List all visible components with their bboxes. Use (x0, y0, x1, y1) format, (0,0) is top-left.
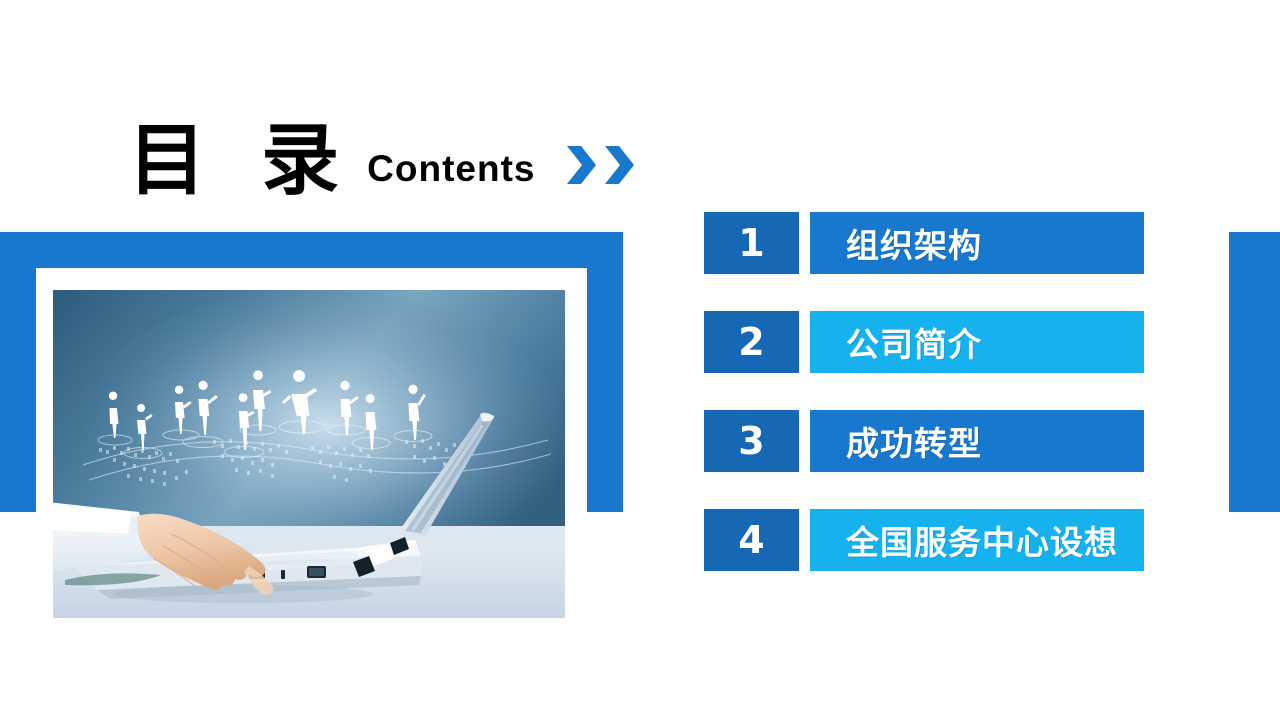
frame-bar-left (0, 232, 36, 512)
page-title-english: Contents (367, 148, 535, 190)
contents-item-number: 4 (704, 509, 799, 571)
contents-item-3[interactable]: 3 成功转型 (704, 410, 1144, 472)
contents-item-label: 公司简介 (846, 318, 982, 366)
contents-item-number: 3 (704, 410, 799, 472)
page-title-chinese: 目 录 (128, 124, 353, 198)
contents-item-number: 2 (704, 311, 799, 373)
contents-item-number: 1 (704, 212, 799, 274)
frame-bar-top (0, 232, 623, 268)
contents-item-1[interactable]: 1 组织架构 (704, 212, 1144, 274)
contents-item-label: 组织架构 (846, 219, 982, 267)
contents-item-label-box[interactable]: 成功转型 (810, 410, 1144, 472)
double-chevron-right-icon (565, 145, 636, 185)
contents-item-label-box[interactable]: 公司简介 (810, 311, 1144, 373)
contents-item-label: 成功转型 (846, 417, 982, 465)
slide-title-block: 目 录 Contents (128, 108, 636, 198)
right-accent-bar (1229, 232, 1280, 512)
laptop-hologram-photo (53, 290, 565, 618)
contents-item-label-box[interactable]: 组织架构 (810, 212, 1144, 274)
contents-item-2[interactable]: 2 公司简介 (704, 311, 1144, 373)
presentation-slide: 目 录 Contents (0, 0, 1280, 720)
contents-item-4[interactable]: 4 全国服务中心设想 (704, 509, 1144, 571)
frame-bar-right (587, 232, 623, 512)
contents-item-label-box[interactable]: 全国服务中心设想 (810, 509, 1144, 571)
contents-item-label: 全国服务中心设想 (846, 516, 1118, 564)
contents-list: 1 组织架构 2 公司简介 3 成功转型 4 全国服务中心设想 (704, 212, 1144, 571)
